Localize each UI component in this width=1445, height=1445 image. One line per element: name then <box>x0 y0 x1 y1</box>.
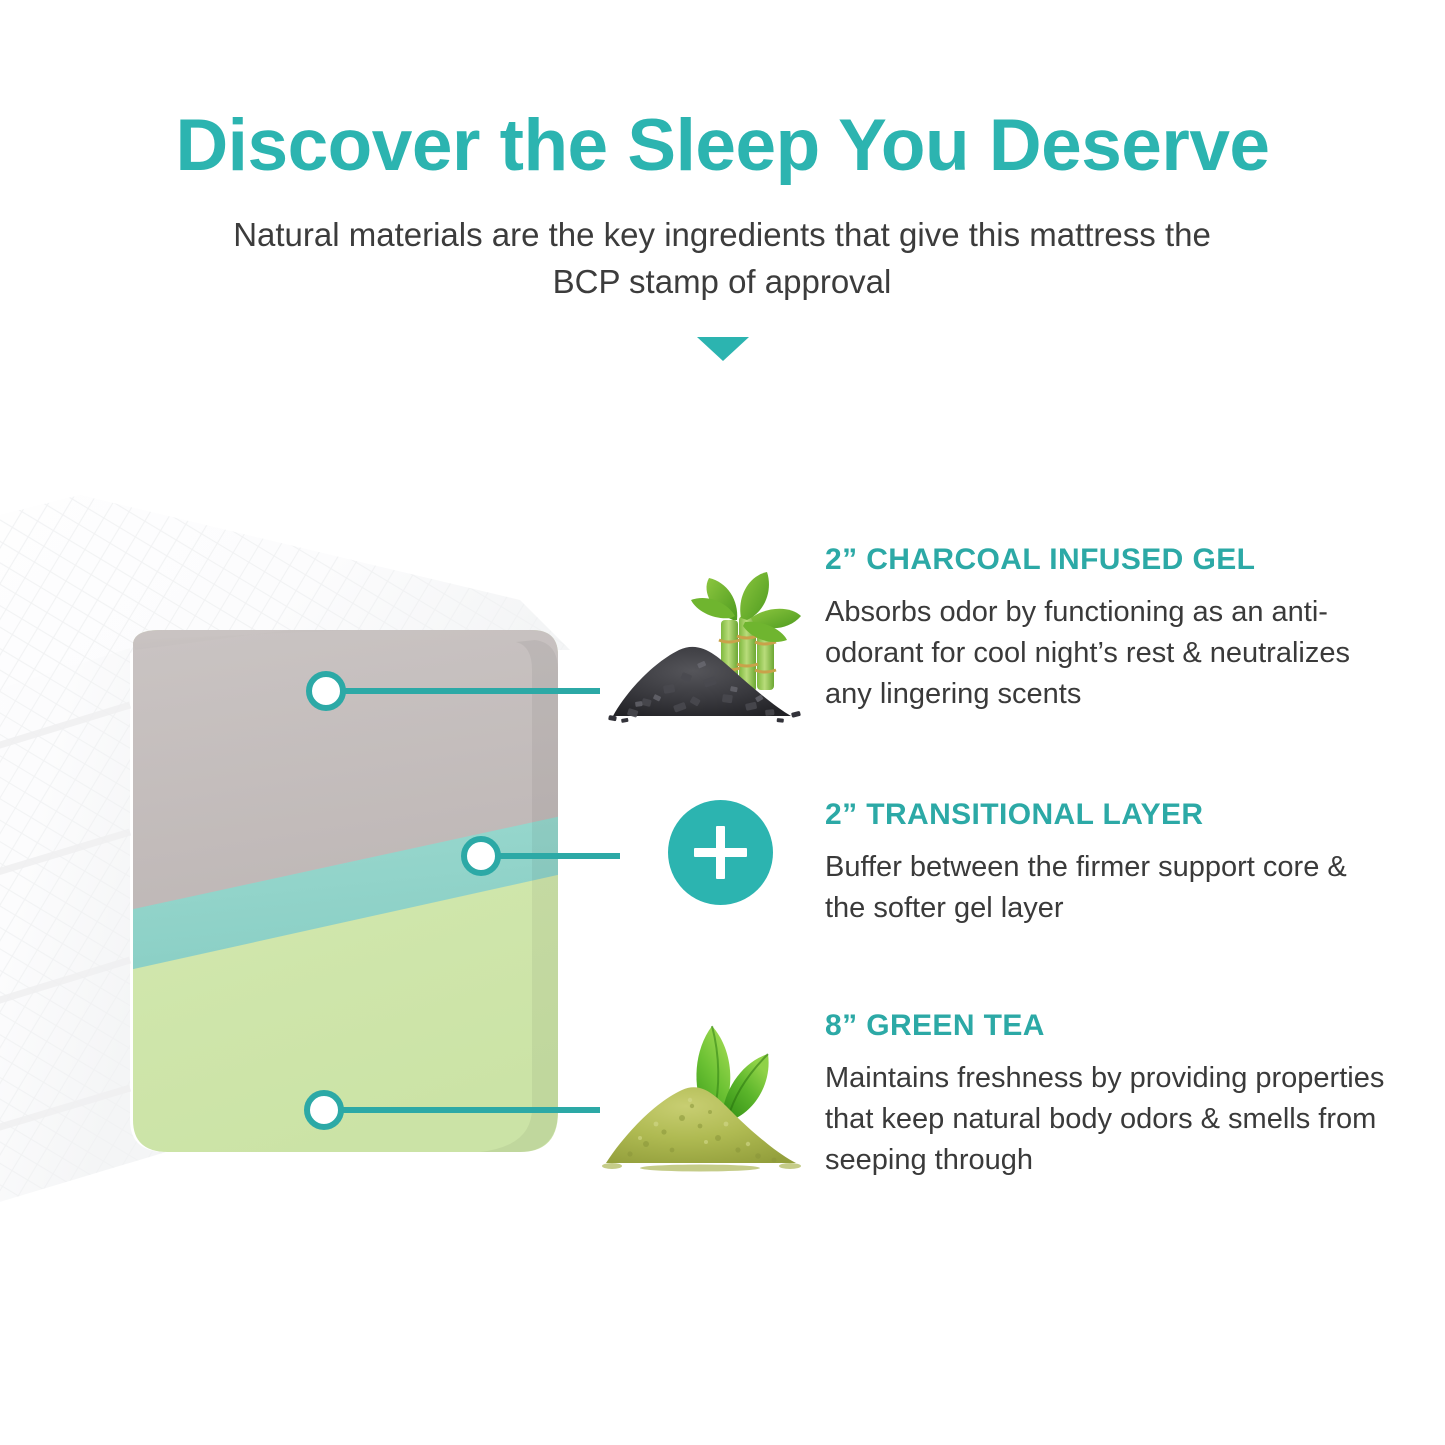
feature-description-greentea: Maintains freshness by providing propert… <box>825 1058 1395 1182</box>
green-tea-powder-pile <box>602 1087 801 1171</box>
plus-vertical-bar <box>716 826 725 879</box>
feature-text-charcoal: 2” CHARCOAL INFUSED GEL Absorbs odor by … <box>825 542 1395 716</box>
header: Discover the Sleep You Deserve Natural m… <box>0 0 1445 400</box>
feature-block-greentea: 8” GREEN TEA Maintains freshness by prov… <box>600 1000 1400 1250</box>
feature-description-charcoal: Absorbs odor by functioning as an anti-o… <box>825 592 1395 716</box>
mattress-foam-body <box>120 580 580 1180</box>
mattress-cutaway-diagram <box>0 480 620 1300</box>
feature-description-transitional: Buffer between the firmer support core &… <box>825 847 1395 929</box>
chevron-down-triangle-icon <box>697 337 749 361</box>
feature-text-greentea: 8” GREEN TEA Maintains freshness by prov… <box>825 1008 1395 1182</box>
plus-circle-icon <box>668 800 778 910</box>
feature-heading-charcoal: 2” CHARCOAL INFUSED GEL <box>825 542 1395 578</box>
feature-block-charcoal: 2” CHARCOAL INFUSED GEL Absorbs odor by … <box>600 530 1400 740</box>
feature-block-transitional: 2” TRANSITIONAL LAYER Buffer between the… <box>600 785 1400 965</box>
page-subtitle: Natural materials are the key ingredient… <box>222 212 1222 306</box>
plus-circle-shape <box>668 800 773 905</box>
feature-heading-transitional: 2” TRANSITIONAL LAYER <box>825 797 1395 833</box>
charcoal-bamboo-icon <box>605 568 810 728</box>
feature-heading-greentea: 8” GREEN TEA <box>825 1008 1395 1044</box>
green-tea-powder-leaf-icon <box>600 1020 815 1175</box>
feature-text-transitional: 2” TRANSITIONAL LAYER Buffer between the… <box>825 797 1395 929</box>
page-title: Discover the Sleep You Deserve <box>0 108 1445 185</box>
